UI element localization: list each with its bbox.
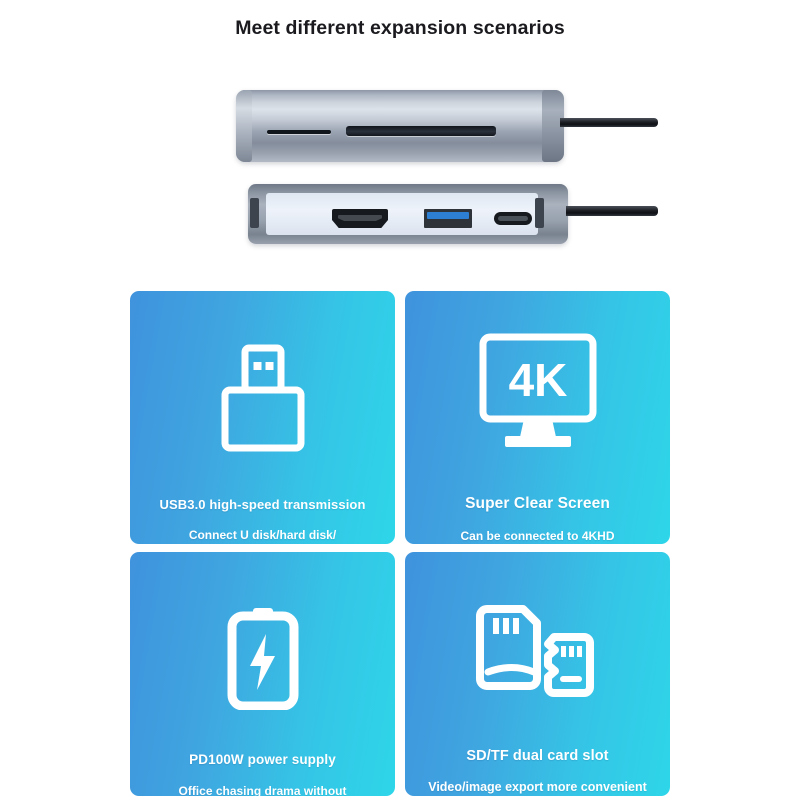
feature-card-4k-line1: Super Clear Screen [405,495,670,513]
feature-card-usb-line2: Connect U disk/hard disk/ keyboard mouse [130,526,395,544]
sd-card-slot [346,126,496,136]
hub-top-cable [560,118,658,127]
product-image-stage [0,60,800,275]
feature-card-4k[interactable]: 4K Super Clear Screen Can be connected t… [405,291,670,544]
usb-flash-drive-icon [220,343,306,453]
feature-card-pd-texts: PD100W power supply Office chasing drama… [130,752,395,796]
feature-card-usb-line1: USB3.0 high-speed transmission [130,497,395,512]
feature-card-pd[interactable]: PD100W power supply Office chasing drama… [130,552,395,796]
feature-card-4k-line2: Can be connected to 4KHD [405,529,670,543]
monitor-4k-label: 4K [508,354,567,406]
feature-card-4k-texts: Super Clear Screen Can be connected to 4… [405,495,670,543]
usb3-port [424,209,472,228]
page-title: Meet different expansion scenarios [0,17,800,40]
hub-bottom-port-face [266,193,538,235]
hub-top-left-cap [236,90,252,162]
battery-charging-icon [226,606,300,710]
feature-card-grid: USB3.0 high-speed transmission Connect U… [130,291,670,796]
feature-card-usb[interactable]: USB3.0 high-speed transmission Connect U… [130,291,395,544]
hub-top-unit [236,90,564,162]
hub-bottom-right-notch [535,198,544,228]
hub-bottom-left-notch [250,198,259,228]
feature-card-sdtf[interactable]: SD/TF dual card slot Video/image export … [405,552,670,796]
hdmi-port [332,209,388,228]
feature-card-sdtf-texts: SD/TF dual card slot Video/image export … [405,748,670,794]
feature-card-sdtf-line1: SD/TF dual card slot [405,748,670,764]
feature-card-pd-line2: Office chasing drama without hindrance [130,782,395,796]
sd-tf-cards-icon [472,604,604,704]
usb-c-port [494,212,532,225]
monitor-4k-icon: 4K [478,333,598,451]
hub-bottom-unit [248,184,568,244]
hub-bottom-cable [566,206,658,216]
feature-card-usb-texts: USB3.0 high-speed transmission Connect U… [130,497,395,544]
feature-card-pd-line1: PD100W power supply [130,752,395,767]
tf-card-slot [267,130,331,134]
feature-card-sdtf-line2: Video/image export more convenient [405,780,670,794]
